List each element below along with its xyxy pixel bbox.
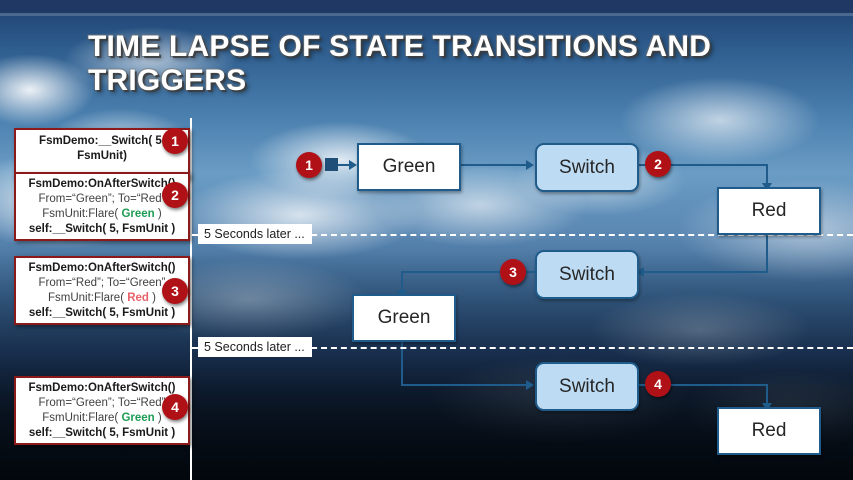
flare-color-token: Red	[127, 292, 149, 304]
code-line: self:__Switch( 5, FsmUnit )	[16, 426, 188, 441]
badge-1-diagram: 1	[296, 152, 322, 178]
badge-4-diagram: 4	[645, 371, 671, 397]
flare-color-token: Green	[121, 412, 154, 424]
code-line: self:__Switch( 5, FsmUnit )	[16, 222, 188, 237]
arrowhead-right	[526, 160, 534, 170]
top-accent-sheen	[0, 13, 853, 16]
flare-pre: FsmUnit:Flare(	[42, 412, 121, 424]
arrowhead-right	[526, 380, 534, 390]
node-red-2: Red	[717, 407, 821, 455]
panel-divider	[190, 118, 192, 480]
page-title: TIME LAPSE OF STATE TRANSITIONS AND TRIG…	[88, 30, 778, 98]
badge-3-code: 3	[162, 278, 188, 304]
badge-2-diagram: 2	[645, 151, 671, 177]
connector-green2-to-switch3-h	[401, 384, 527, 386]
badge-1-code: 1	[162, 128, 188, 154]
connector-red1-to-switch2-h	[643, 271, 768, 273]
badge-2-code: 2	[162, 182, 188, 208]
time-separator-label-1: 5 Seconds later ...	[198, 224, 312, 244]
flare-post: )	[155, 412, 162, 424]
badge-4-code: 4	[162, 394, 188, 420]
flare-post: )	[149, 292, 156, 304]
badge-3-diagram: 3	[500, 259, 526, 285]
node-switch-3: Switch	[535, 362, 639, 411]
code-line: FsmDemo:OnAfterSwitch()	[16, 261, 188, 276]
time-separator-label-2: 5 Seconds later ...	[198, 337, 312, 357]
code-line: FsmUnit)	[16, 149, 188, 164]
flare-pre: FsmUnit:Flare(	[48, 292, 127, 304]
connector-red1-to-switch2-v	[766, 231, 768, 272]
connector-green2-to-switch3-v	[401, 338, 403, 384]
slide-canvas: TIME LAPSE OF STATE TRANSITIONS AND TRIG…	[0, 0, 853, 480]
node-green-2: Green	[352, 294, 456, 342]
flare-pre: FsmUnit:Flare(	[42, 208, 121, 220]
code-line-flare: FsmUnit:Flare( Green )	[16, 207, 188, 222]
flare-color-token: Green	[121, 208, 154, 220]
node-green-1: Green	[357, 143, 461, 191]
node-switch-2: Switch	[535, 250, 639, 299]
connector-switch3-to-red2-v	[766, 384, 768, 405]
connector-switch1-to-red1-v	[766, 164, 768, 185]
top-accent-bar	[0, 0, 853, 13]
start-marker	[325, 158, 338, 171]
connector-switch2-to-green2-v	[401, 271, 403, 292]
flare-post: )	[155, 208, 162, 220]
arrowhead-right	[349, 160, 357, 170]
code-line: FsmDemo:OnAfterSwitch()	[16, 381, 188, 396]
code-line: self:__Switch( 5, FsmUnit )	[16, 306, 188, 321]
node-red-1: Red	[717, 187, 821, 235]
node-switch-1: Switch	[535, 143, 639, 192]
connector-green1-to-switch1	[457, 164, 527, 166]
code-line-flare: FsmUnit:Flare( Green )	[16, 411, 188, 426]
code-box-2: FsmDemo:OnAfterSwitch() From=“Green”; To…	[14, 172, 190, 241]
